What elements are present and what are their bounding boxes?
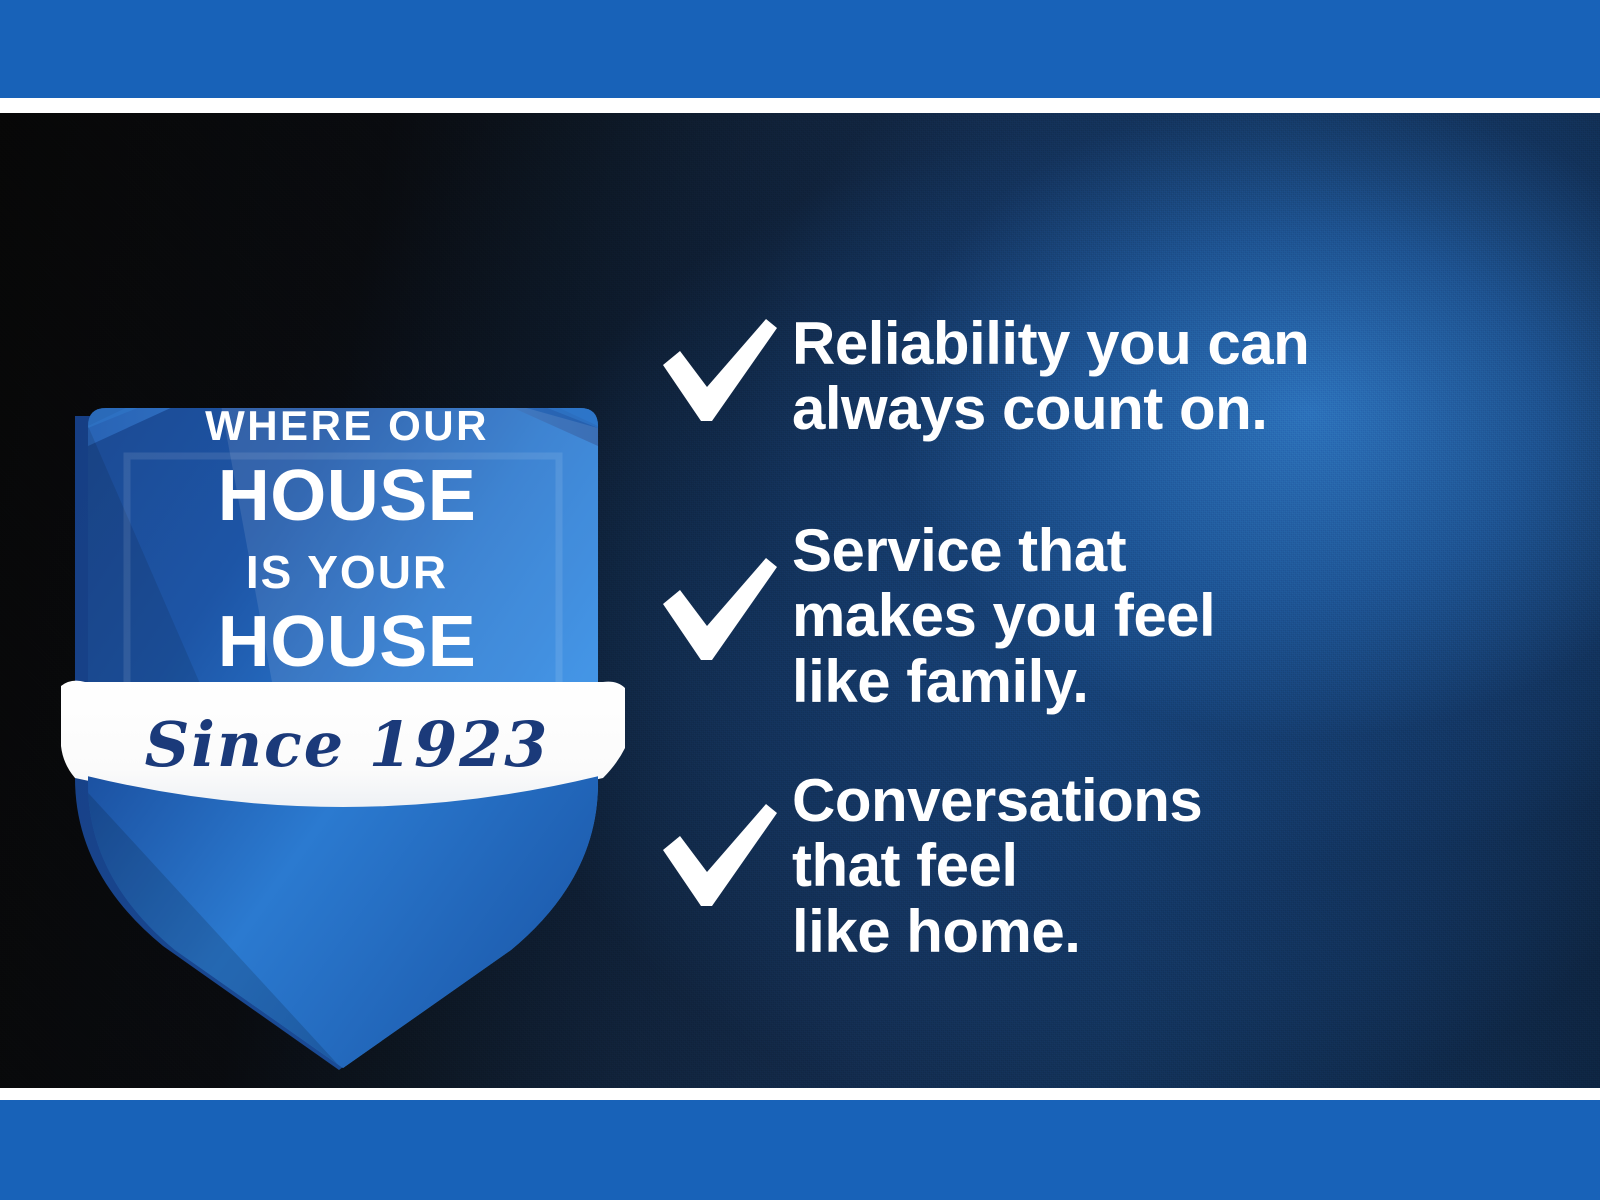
shield-line-2: HOUSE [218,456,477,536]
benefit-text-service: Service that makes you feel like family. [792,516,1540,714]
shield-line-1: WHERE OUR [205,402,489,449]
shield-badge: WHERE OUR HOUSE IS YOUR HOUSE Since 1923 [55,278,625,1078]
benefit-text-reliability: Reliability you can always count on. [792,309,1540,442]
top-brand-bar [0,0,1600,98]
checkmark-icon [660,766,792,912]
benefit-item-reliability: Reliability you can always count on. [660,309,1540,442]
top-white-divider [0,98,1600,113]
benefit-item-service: Service that makes you feel like family. [660,516,1540,714]
shield-line-4: HOUSE [218,602,477,682]
checkmark-icon [660,516,792,666]
since-ribbon-text: Since 1923 [145,708,550,781]
benefit-text-conversations: Conversations that feel like home. [792,766,1540,964]
benefit-item-conversations: Conversations that feel like home. [660,766,1540,964]
main-stage: WHERE OUR HOUSE IS YOUR HOUSE Since 1923 [0,113,1600,1088]
bottom-brand-bar [0,1100,1600,1200]
checkmark-icon [660,309,792,427]
promo-graphic: WHERE OUR HOUSE IS YOUR HOUSE Since 1923 [0,0,1600,1200]
shield-line-3: IS YOUR [246,546,448,598]
bottom-white-divider [0,1088,1600,1100]
benefits-list: Reliability you can always count on. Ser… [660,309,1540,964]
